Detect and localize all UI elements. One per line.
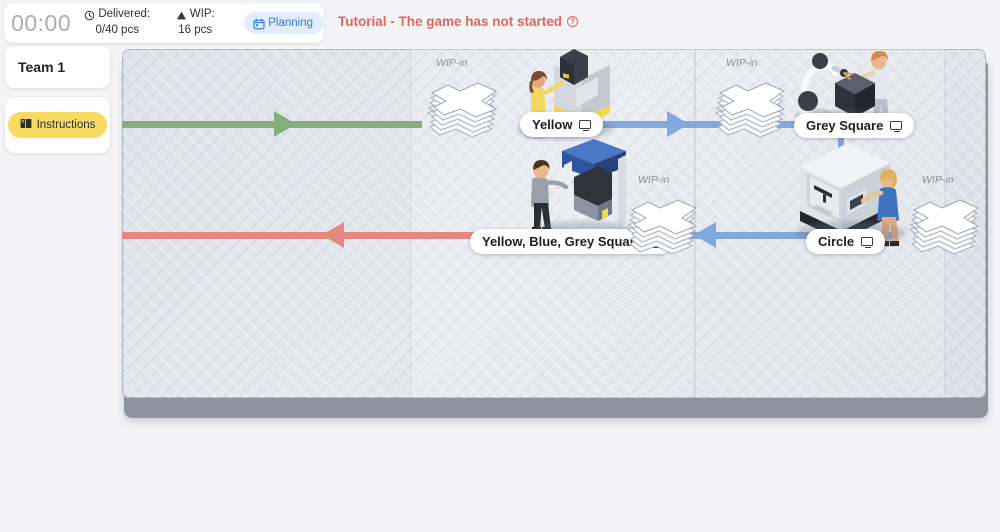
phase-badge-planning[interactable]: Planning bbox=[244, 12, 324, 34]
wip-value: 16 pcs bbox=[178, 23, 212, 39]
wip-in-label-3: WIP-in bbox=[638, 174, 670, 186]
station-badge-label: Grey Square bbox=[806, 118, 883, 133]
book-icon bbox=[20, 118, 32, 132]
clock-icon bbox=[84, 10, 95, 21]
station-badge-grey-square[interactable]: Grey Square bbox=[794, 113, 914, 138]
calendar-icon bbox=[253, 18, 264, 29]
red-belt-arrow-left bbox=[322, 222, 344, 248]
station-badge-circle[interactable]: Circle bbox=[806, 229, 885, 254]
wip-in-label-4: WIP-in bbox=[922, 174, 954, 186]
station-badge-label: Yellow bbox=[532, 117, 572, 132]
green-inbound-belt bbox=[122, 121, 422, 128]
instructions-button-label: Instructions bbox=[37, 119, 96, 131]
tutorial-text: Tutorial - The game has not started bbox=[338, 14, 562, 29]
instructions-card: Instructions bbox=[5, 97, 110, 153]
wip-stack-3[interactable] bbox=[622, 194, 706, 256]
instructions-button[interactable]: Instructions bbox=[8, 112, 108, 138]
delivered-label: Delivered: bbox=[98, 7, 150, 23]
screen-icon bbox=[579, 120, 591, 129]
team-name-label: Team 1 bbox=[18, 59, 65, 75]
delivered-stat: Delivered: 0/40 pcs bbox=[78, 7, 156, 38]
game-board-wrap: WIP-in bbox=[122, 49, 988, 418]
blue-top-belt-arrow-right bbox=[667, 111, 689, 137]
station-badge-label: Yellow, Blue, Grey Square bbox=[482, 234, 642, 249]
wip-stat: WIP: 16 pcs bbox=[156, 7, 234, 38]
header-bar: 00:00 Delivered: 0/40 pcs bbox=[0, 0, 1000, 46]
delivered-value: 0/40 pcs bbox=[95, 23, 138, 39]
green-belt-arrow-right bbox=[274, 111, 296, 137]
screen-icon bbox=[890, 121, 902, 130]
station-badge-label: Circle bbox=[818, 234, 854, 249]
wip-stack-4[interactable] bbox=[904, 194, 986, 256]
station-badge-yellow[interactable]: Yellow bbox=[520, 112, 603, 137]
screen-icon bbox=[861, 237, 873, 246]
phase-badge-label: Planning bbox=[268, 17, 313, 29]
team-card[interactable]: Team 1 bbox=[5, 46, 110, 88]
wip-in-label-2: WIP-in bbox=[726, 57, 758, 69]
wip-stack-2[interactable] bbox=[710, 77, 794, 139]
status-panel: 00:00 Delivered: 0/40 pcs bbox=[4, 3, 324, 43]
wip-stack-1[interactable] bbox=[422, 77, 506, 139]
question-mark-icon[interactable]: ? bbox=[567, 16, 578, 27]
factory-board[interactable]: WIP-in bbox=[122, 49, 986, 398]
wip-label: WIP: bbox=[190, 7, 215, 23]
game-timer: 00:00 bbox=[4, 10, 78, 37]
warning-triangle-icon bbox=[176, 10, 187, 21]
tutorial-status-message: Tutorial - The game has not started ? bbox=[338, 14, 578, 29]
wip-in-label-1: WIP-in bbox=[436, 57, 468, 69]
